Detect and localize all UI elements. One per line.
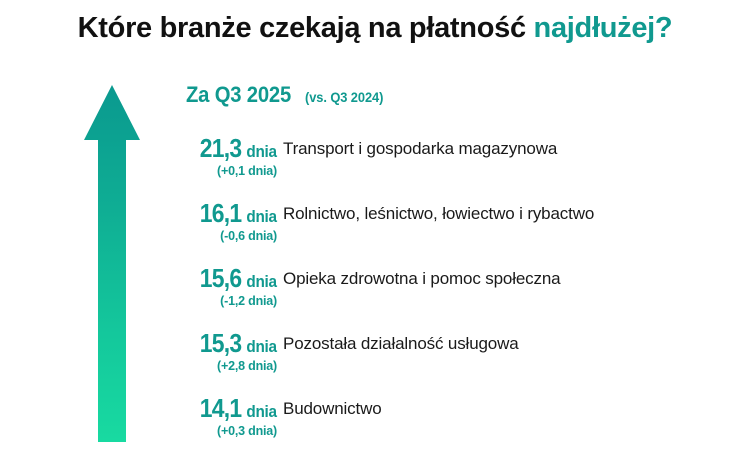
value-line: 14,1dnia	[0, 391, 277, 421]
page-title: Które branże czekają na płatność najdłuż…	[0, 12, 750, 45]
subtitle-period: Za Q3 2025	[186, 82, 291, 108]
value-number: 15,3	[200, 330, 242, 356]
subtitle-comparison: (vs. Q3 2024)	[305, 89, 383, 105]
value-delta: (+2,8 dnia)	[0, 360, 277, 373]
value-block: 14,1dnia (+0,3 dnia)	[0, 391, 277, 438]
value-number: 14,1	[200, 395, 242, 421]
list-item: 16,1dnia (-0,6 dnia) Rolnictwo, leśnictw…	[0, 196, 750, 261]
value-line: 15,3dnia	[0, 326, 277, 356]
value-unit: dnia	[247, 143, 277, 160]
value-block: 16,1dnia (-0,6 dnia)	[0, 196, 277, 243]
value-unit: dnia	[247, 208, 277, 225]
value-delta: (-1,2 dnia)	[0, 295, 277, 308]
value-unit: dnia	[247, 403, 277, 420]
value-number: 15,6	[200, 265, 242, 291]
infographic-canvas: Które branże czekają na płatność najdłuż…	[0, 0, 750, 462]
industry-label: Opieka zdrowotna i pomoc społeczna	[283, 269, 560, 289]
page-title-accent: najdłużej?	[534, 12, 673, 44]
value-block: 15,6dnia (-1,2 dnia)	[0, 261, 277, 308]
value-line: 16,1dnia	[0, 196, 277, 226]
value-number: 16,1	[200, 200, 242, 226]
page-title-main: Które branże czekają na płatność	[78, 12, 534, 44]
list-item: 14,1dnia (+0,3 dnia) Budownictwo	[0, 391, 750, 456]
industry-label: Budownictwo	[283, 399, 382, 419]
value-line: 21,3dnia	[0, 131, 277, 161]
value-line: 15,6dnia	[0, 261, 277, 291]
value-delta: (+0,1 dnia)	[0, 165, 277, 178]
list-item: 15,6dnia (-1,2 dnia) Opieka zdrowotna i …	[0, 261, 750, 326]
value-block: 21,3dnia (+0,1 dnia)	[0, 131, 277, 178]
value-unit: dnia	[247, 273, 277, 290]
list-item: 21,3dnia (+0,1 dnia) Transport i gospoda…	[0, 131, 750, 196]
value-unit: dnia	[247, 338, 277, 355]
industry-list: 21,3dnia (+0,1 dnia) Transport i gospoda…	[0, 131, 750, 456]
value-delta: (+0,3 dnia)	[0, 425, 277, 438]
industry-label: Pozostała działalność usługowa	[283, 334, 519, 354]
value-number: 21,3	[200, 135, 242, 161]
value-delta: (-0,6 dnia)	[0, 230, 277, 243]
subtitle: Za Q3 2025 (vs. Q3 2024)	[186, 82, 390, 108]
industry-label: Transport i gospodarka magazynowa	[283, 139, 557, 159]
value-block: 15,3dnia (+2,8 dnia)	[0, 326, 277, 373]
list-item: 15,3dnia (+2,8 dnia) Pozostała działalno…	[0, 326, 750, 391]
industry-label: Rolnictwo, leśnictwo, łowiectwo i rybact…	[283, 204, 594, 224]
